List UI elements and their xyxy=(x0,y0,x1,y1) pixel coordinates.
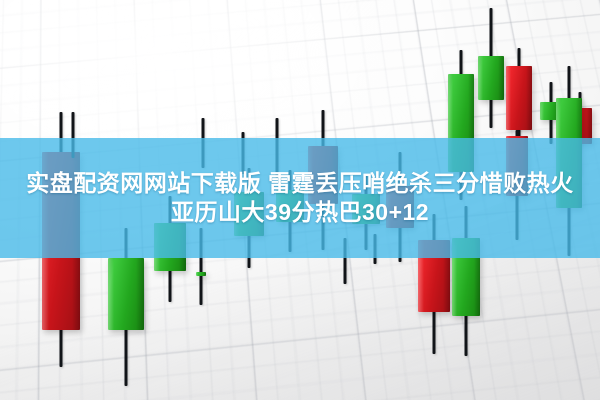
candle-body-up xyxy=(478,56,504,100)
article-thumbnail: 实盘配资网网站下载版 雷霆丢压哨绝杀三分惜败热火 亚历山大39分热巴30+12 xyxy=(0,0,600,400)
headline-line-2: 亚历山大39分热巴30+12 xyxy=(171,198,429,227)
headline-banner: 实盘配资网网站下载版 雷霆丢压哨绝杀三分惜败热火 亚历山大39分热巴30+12 xyxy=(0,138,600,258)
headline-line-1: 实盘配资网网站下载版 雷霆丢压哨绝杀三分惜败热火 xyxy=(26,169,573,198)
candle-body-up xyxy=(108,258,144,330)
